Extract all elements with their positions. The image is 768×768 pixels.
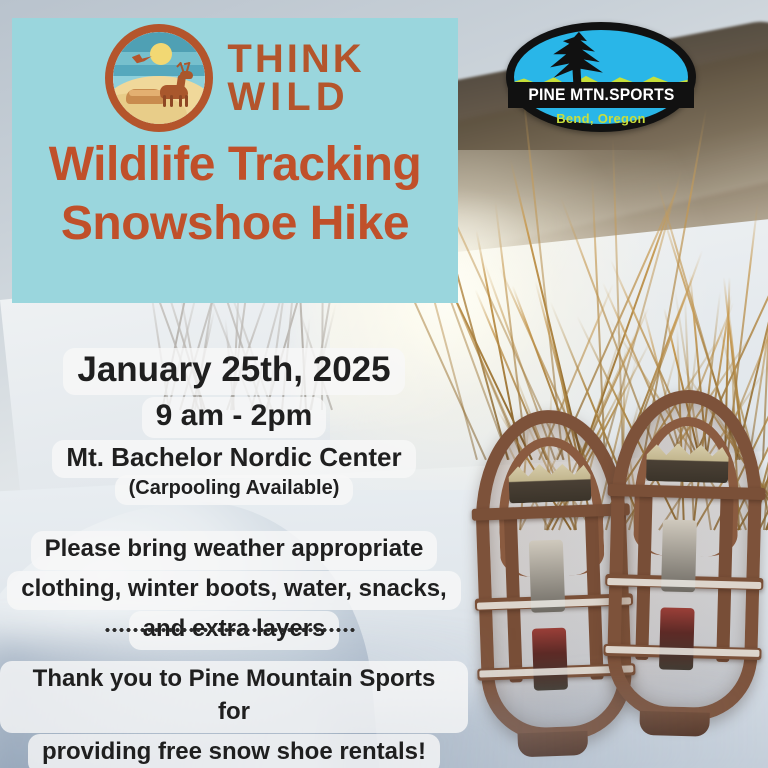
sponsor-thanks: Thank you to Pine Mountain Sports for pr… — [0, 660, 468, 768]
deer-icon — [160, 65, 194, 107]
event-location: Mt. Bachelor Nordic Center — [0, 440, 468, 478]
event-date: January 25th, 2025 — [0, 348, 468, 395]
think-wild-emblem-icon — [105, 24, 213, 132]
event-note-text: (Carpooling Available) — [115, 475, 354, 505]
sponsor-tagline: Bend, Oregon — [506, 111, 696, 126]
event-time: 9 am - 2pm — [0, 397, 468, 438]
event-location-text: Mt. Bachelor Nordic Center — [52, 440, 415, 478]
bring-line-1: Please bring weather appropriate — [31, 531, 438, 570]
event-flyer: THINK WILD Wildlife Tracking Snowshoe Hi… — [0, 0, 768, 768]
think-wild-wordmark: THINK WILD — [227, 40, 364, 117]
wordmark-line-2: WILD — [227, 78, 364, 116]
wordmark-line-1: THINK — [227, 40, 364, 78]
sponsor-name: PINE MTN.SPORTS — [528, 85, 674, 105]
event-date-text: January 25th, 2025 — [63, 348, 404, 395]
headline-banner: THINK WILD Wildlife Tracking Snowshoe Hi… — [12, 18, 458, 303]
snowshoe-boot — [659, 607, 695, 670]
organization-logo: THINK WILD — [12, 26, 458, 130]
event-time-text: 9 am - 2pm — [142, 397, 327, 438]
headline-line-1: Wildlife Tracking — [12, 136, 458, 195]
bring-list: Please bring weather appropriate clothin… — [0, 530, 468, 651]
pine-mtn-sports-logo-icon: PINE MTN.SPORTS Bend, Oregon — [506, 22, 696, 132]
sponsor-name-bar: PINE MTN.SPORTS — [508, 82, 694, 108]
snowshoe-boot — [532, 628, 568, 691]
thanks-line-2: providing free snow shoe rentals! — [28, 734, 440, 768]
rock-formation — [126, 89, 165, 104]
event-note: (Carpooling Available) — [0, 475, 468, 505]
headline-line-2: Snowshoe Hike — [12, 195, 458, 254]
dotted-divider — [104, 628, 356, 632]
thanks-line-1: Thank you to Pine Mountain Sports for — [0, 661, 468, 733]
bring-line-2: clothing, winter boots, water, snacks, — [7, 571, 460, 610]
page-title: Wildlife Tracking Snowshoe Hike — [12, 136, 458, 253]
